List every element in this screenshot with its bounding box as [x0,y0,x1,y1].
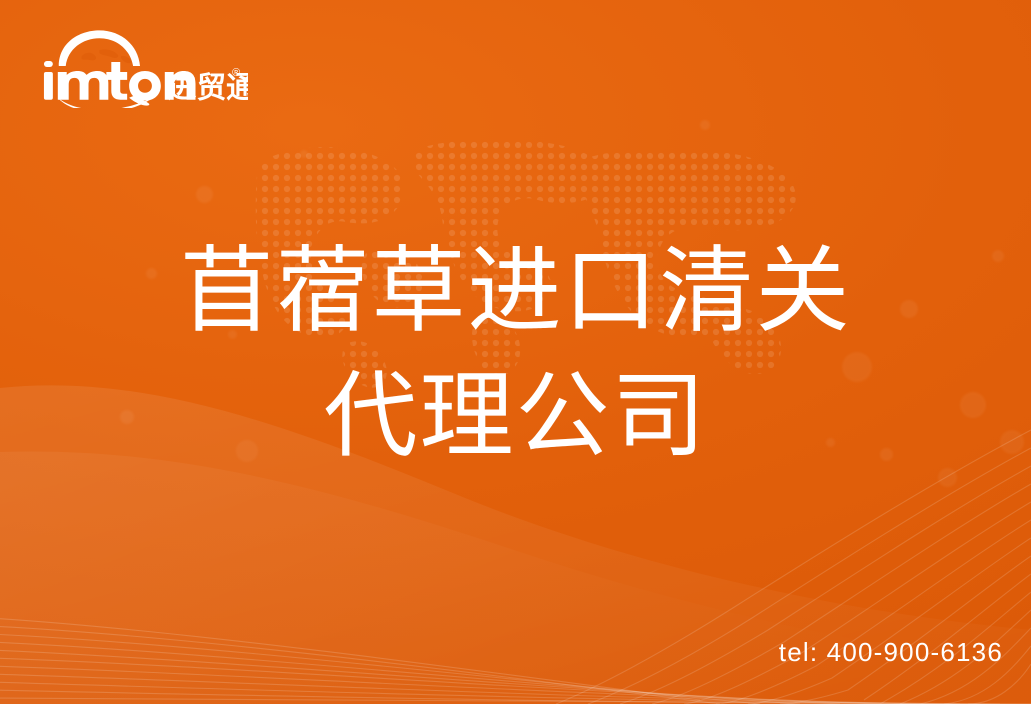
globe-arc-icon [59,30,140,66]
promo-banner: 进贸通 ® 苜蓿草进口清关 代理公司 tel: 400-900-6136 [0,0,1031,704]
headline-line-2: 代理公司 [0,353,1031,478]
registered-trademark-icon: ® [232,67,240,79]
headline-line-1: 苜蓿草进口清关 [0,228,1031,353]
page-title: 苜蓿草进口清关 代理公司 [0,228,1031,478]
contact-phone[interactable]: tel: 400-900-6136 [779,637,1003,668]
brand-logo[interactable]: 进贸通 ® [38,28,248,108]
